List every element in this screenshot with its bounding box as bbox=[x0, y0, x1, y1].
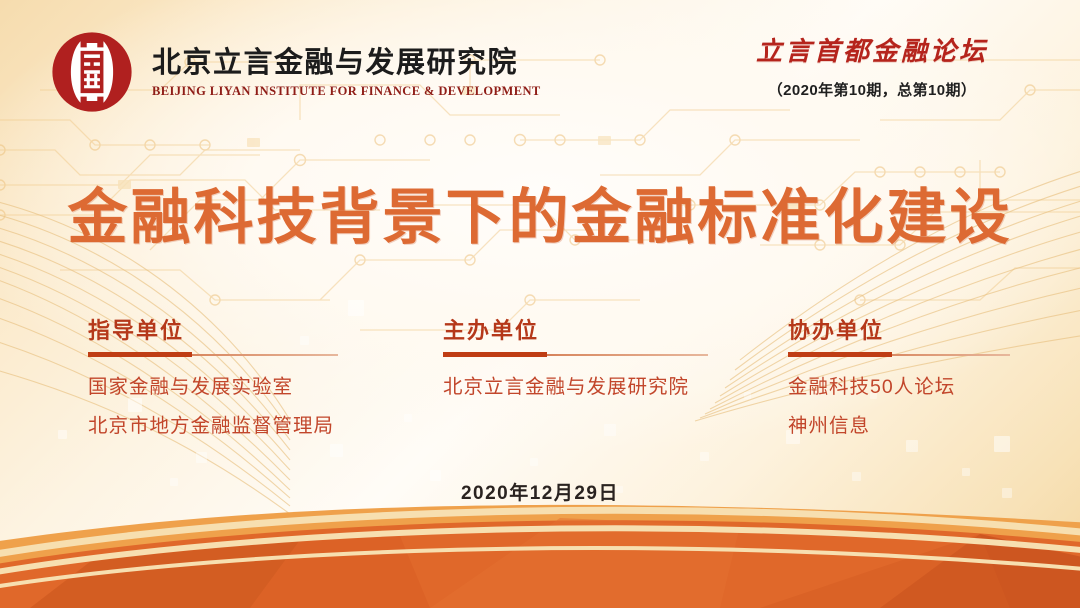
unit-heading-rule bbox=[788, 350, 1010, 359]
unit-heading: 协办单位 bbox=[788, 318, 1010, 344]
forum-issue: （2020年第10期，总第10期） bbox=[722, 79, 1022, 100]
unit-heading: 指导单位 bbox=[88, 318, 338, 344]
forum-poster: 北京立言金融与发展研究院 BEIJING LIYAN INSTITUTE FOR… bbox=[0, 0, 1080, 608]
unit-column-cohost: 协办单位 金融科技50人论坛 神州信息 bbox=[788, 318, 1010, 438]
unit-entry: 金融科技50人论坛 bbox=[788, 375, 1010, 399]
unit-column-host: 主办单位 北京立言金融与发展研究院 bbox=[443, 318, 708, 400]
liyan-seal-logo-icon bbox=[48, 28, 136, 116]
rule-thick bbox=[443, 352, 547, 357]
forum-title-block: 立言首都金融论坛 （2020年第10期，总第10期） bbox=[722, 38, 1022, 100]
unit-entry: 神州信息 bbox=[788, 414, 1010, 438]
poster-header: 北京立言金融与发展研究院 BEIJING LIYAN INSTITUTE FOR… bbox=[0, 0, 1080, 130]
unit-heading: 主办单位 bbox=[443, 318, 708, 344]
unit-entry: 北京市地方金融监督管理局 bbox=[88, 414, 338, 438]
poster-main-title: 金融科技背景下的金融标准化建设 bbox=[0, 186, 1080, 249]
forum-name: 立言首都金融论坛 bbox=[722, 38, 1022, 67]
unit-column-guidance: 指导单位 国家金融与发展实验室 北京市地方金融监督管理局 bbox=[88, 318, 338, 438]
brand-name-en: BEIJING LIYAN INSTITUTE FOR FINANCE & DE… bbox=[152, 84, 541, 99]
institute-brand: 北京立言金融与发展研究院 BEIJING LIYAN INSTITUTE FOR… bbox=[48, 28, 541, 116]
rule-thick bbox=[788, 352, 892, 357]
unit-entry: 国家金融与发展实验室 bbox=[88, 375, 338, 399]
unit-heading-rule bbox=[88, 350, 338, 359]
brand-name-cn: 北京立言金融与发展研究院 bbox=[152, 47, 541, 79]
unit-heading-rule bbox=[443, 350, 708, 359]
rule-thick bbox=[88, 352, 192, 357]
bottom-arc-decoration bbox=[0, 478, 1080, 608]
organizing-units: 指导单位 国家金融与发展实验室 北京市地方金融监督管理局 主办单位 北京立言金融… bbox=[0, 318, 1080, 448]
unit-entry: 北京立言金融与发展研究院 bbox=[443, 375, 708, 399]
